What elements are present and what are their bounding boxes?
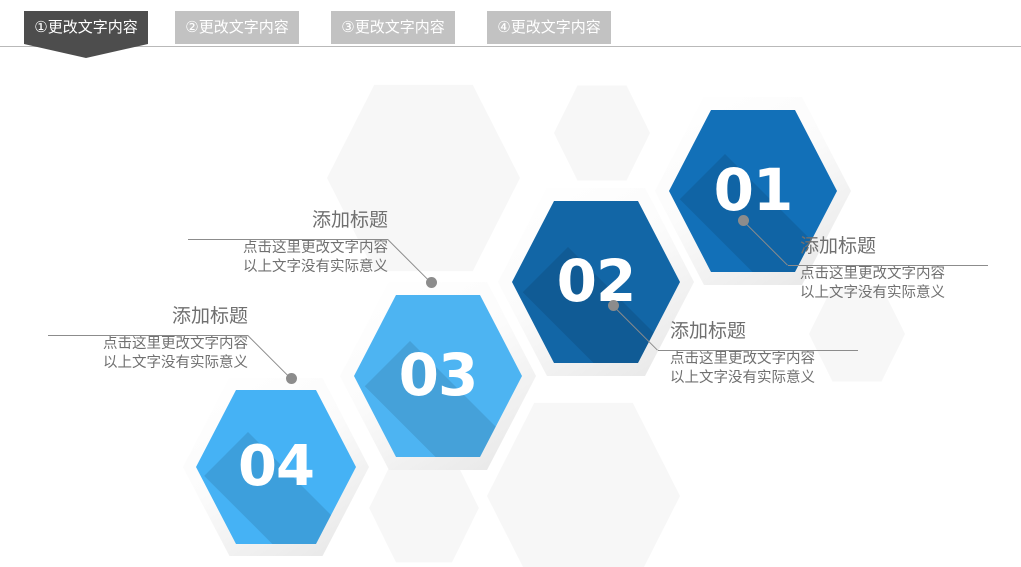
slide-canvas: ①更改文字内容 ②更改文字内容 ③更改文字内容 ④更改文字内容 04 [0,0,1021,567]
tab-1[interactable]: ①更改文字内容 [24,11,148,44]
connector-dot-01 [738,215,749,226]
callout-04-title: 添加标题 [8,304,248,330]
callout-01: 添加标题 点击这里更改文字内容 以上文字没有实际意义 [800,234,945,303]
connector-line-03-underline [188,239,388,240]
ghost-hexagon-top-mid [553,84,651,182]
tab-1-label: ①更改文字内容 [34,19,137,36]
callout-03-line1: 点击这里更改文字内容 [148,239,388,258]
tab-3-label: ③更改文字内容 [341,19,444,36]
callout-03-line2: 以上文字没有实际意义 [148,258,388,277]
callout-02-line2: 以上文字没有实际意义 [670,369,815,388]
tab-4[interactable]: ④更改文字内容 [487,11,611,44]
callout-01-line2: 以上文字没有实际意义 [800,284,945,303]
connector-line-02-underline [658,350,858,351]
callout-04-line2: 以上文字没有实际意义 [8,354,248,373]
callout-01-title: 添加标题 [800,234,945,260]
callout-02: 添加标题 点击这里更改文字内容 以上文字没有实际意义 [670,319,815,388]
tab-bar-divider [0,46,1021,47]
callout-04-line1: 点击这里更改文字内容 [8,335,248,354]
tab-3[interactable]: ③更改文字内容 [331,11,455,44]
connector-dot-04 [286,373,297,384]
callout-03: 添加标题 点击这里更改文字内容 以上文字没有实际意义 [148,208,388,277]
hexagon-diagram: 04 03 02 01 [0,52,1021,567]
connector-line-01-underline [788,265,988,266]
connector-dot-03 [426,277,437,288]
connector-dot-02 [608,300,619,311]
connector-line-04-underline [48,335,248,336]
tab-4-label: ④更改文字内容 [497,19,600,36]
callout-03-title: 添加标题 [148,208,388,234]
callout-01-line1: 点击这里更改文字内容 [800,265,945,284]
tab-bar: ①更改文字内容 ②更改文字内容 ③更改文字内容 ④更改文字内容 [0,0,1021,58]
tab-2[interactable]: ②更改文字内容 [175,11,299,44]
connector-line-04-diagonal [247,335,292,380]
tab-2-label: ②更改文字内容 [185,19,288,36]
tab-1-pointer [24,44,148,58]
callout-04: 添加标题 点击这里更改文字内容 以上文字没有实际意义 [8,304,248,373]
callout-02-line1: 点击这里更改文字内容 [670,350,815,369]
callout-02-title: 添加标题 [670,319,815,345]
